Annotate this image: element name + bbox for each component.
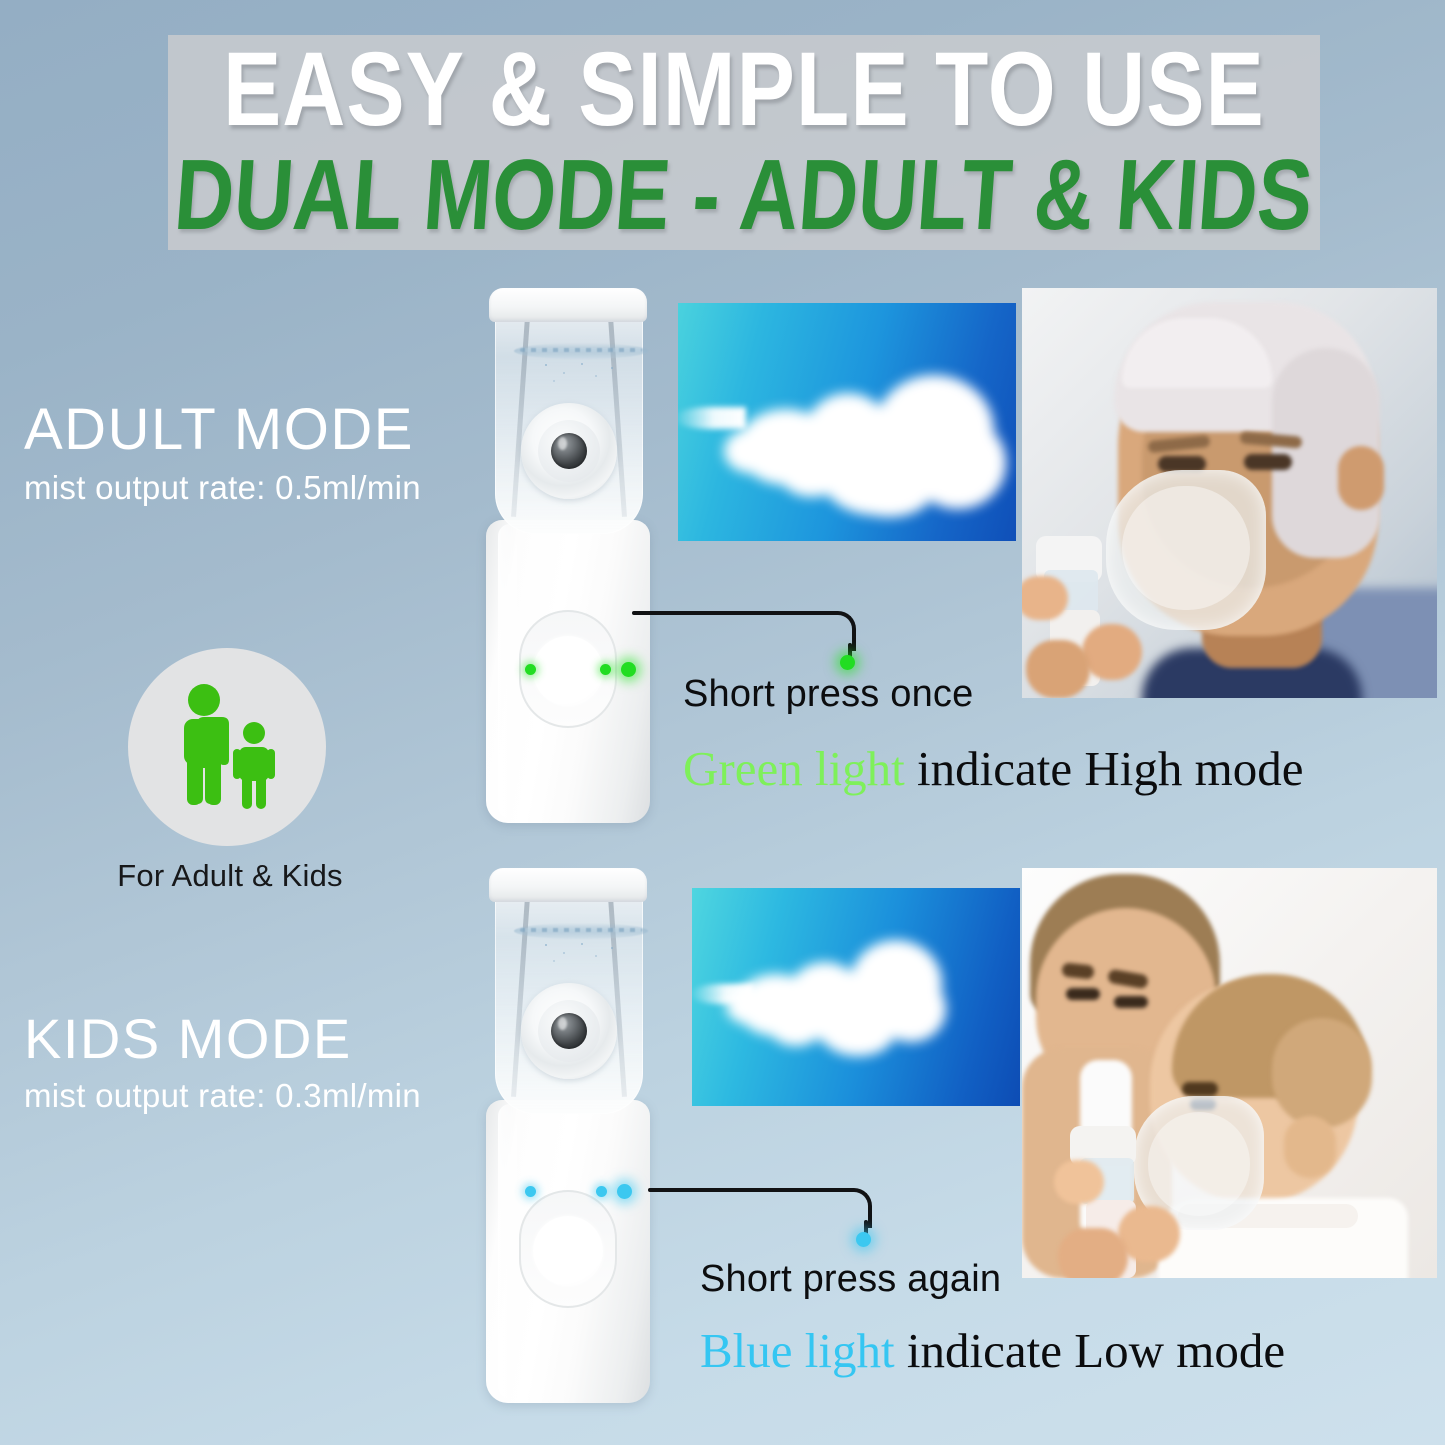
adult-and-child-icon <box>161 681 293 813</box>
led-indicator-left <box>525 1186 536 1197</box>
blue-light-highlight: Blue light <box>700 1323 895 1378</box>
mist-cloud <box>724 365 1004 515</box>
photo-mother-and-baby-using-nebulizer <box>1022 868 1437 1278</box>
led-indicator-mid <box>600 664 611 675</box>
led-indicator-right <box>617 1184 632 1199</box>
water-bubbles <box>536 361 626 387</box>
led-indicator-left <box>525 664 536 675</box>
device-cap <box>489 288 647 322</box>
power-button[interactable] <box>533 1216 603 1286</box>
title-banner: EASY & SIMPLE TO USE DUAL MODE - ADULT &… <box>168 35 1320 250</box>
green-light-highlight: Green light <box>683 741 905 796</box>
adult-press-instruction: Short press once <box>683 673 973 716</box>
medication-chamber <box>495 874 643 1114</box>
mist-image-adult <box>678 303 1016 541</box>
adult-mode-title: ADULT MODE <box>24 400 421 461</box>
kids-mode-indicator-text: Blue light indicate Low mode <box>700 1322 1285 1379</box>
photo-adult-using-nebulizer <box>1022 288 1437 698</box>
kids-mist-rate: mist output rate: 0.3ml/min <box>24 1077 421 1115</box>
kids-mode-text-block: KIDS MODE mist output rate: 0.3ml/min <box>24 1010 421 1115</box>
callout-led-green <box>840 655 855 670</box>
adult-mode-indicator-text: Green light indicate High mode <box>683 740 1304 797</box>
kids-mode-title: KIDS MODE <box>24 1010 421 1069</box>
infographic-poster: EASY & SIMPLE TO USE DUAL MODE - ADULT &… <box>0 0 1445 1445</box>
water-bubbles <box>536 941 626 967</box>
headline-secondary: DUAL MODE - ADULT & KIDS <box>172 149 1316 244</box>
headline-primary: EASY & SIMPLE TO USE <box>223 40 1265 140</box>
led-indicator-mid <box>596 1186 607 1197</box>
medication-chamber <box>495 294 643 534</box>
led-indicator-right <box>621 662 636 677</box>
family-badge <box>128 648 326 846</box>
water-level-line <box>514 923 648 939</box>
mesh-nozzle <box>521 983 617 1079</box>
kids-mode-indicator-rest: indicate Low mode <box>895 1323 1286 1378</box>
adult-mode-text-block: ADULT MODE mist output rate: 0.5ml/min <box>24 400 421 507</box>
water-level-line <box>514 343 648 359</box>
adult-mist-rate: mist output rate: 0.5ml/min <box>24 469 421 507</box>
adult-mode-indicator-rest: indicate High mode <box>905 741 1304 796</box>
mesh-nozzle <box>521 403 617 499</box>
device-cap <box>489 868 647 902</box>
nebulizer-device-kids <box>483 868 653 1403</box>
power-button[interactable] <box>533 636 603 706</box>
kids-press-instruction: Short press again <box>700 1258 1001 1301</box>
mist-cloud <box>726 936 956 1056</box>
mist-image-kids <box>692 888 1020 1106</box>
family-caption: For Adult & Kids <box>95 858 365 894</box>
nebulizer-device-adult <box>483 288 653 823</box>
callout-led-blue <box>856 1232 871 1247</box>
